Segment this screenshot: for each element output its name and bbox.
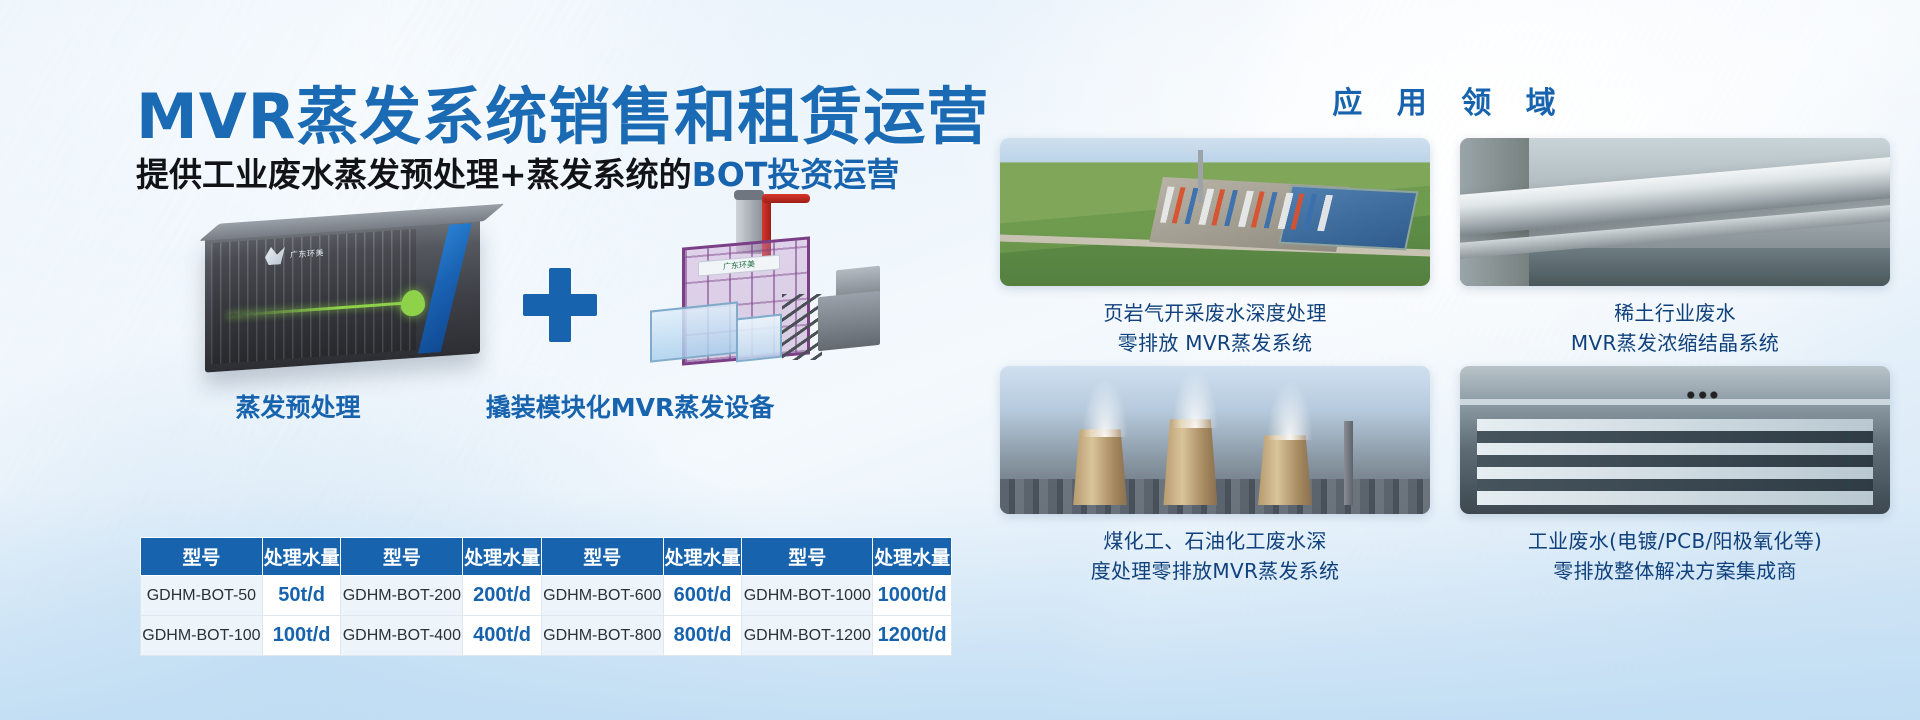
product-caption-right: 撬装模块化MVR蒸发设备 [460, 388, 800, 424]
applications-column: 应 用 领 域 页岩气开采废水深度处理 零排放 MVR蒸发系统 [980, 0, 1920, 720]
application-card: 稀土行业废水 MVR蒸发浓缩结晶系统 [1460, 138, 1890, 358]
table-cell-model: GDHM-BOT-400 [341, 616, 463, 656]
caption-line-2: MVR蒸发浓缩结晶系统 [1460, 329, 1890, 359]
application-cards-grid: 页岩气开采废水深度处理 零排放 MVR蒸发系统 稀土行业废水 MVR蒸发浓缩结晶… [1000, 138, 1900, 586]
table-cell-capacity: 400t/d [463, 616, 542, 656]
table-cell-model: GDHM-BOT-800 [541, 616, 663, 656]
table-header-cell: 型号 [541, 538, 663, 576]
photo-detail-cooling-tower [1258, 435, 1312, 505]
equipment-control-box-lower [818, 291, 880, 352]
caption-line-1: 页岩气开采废水深度处理 [1103, 301, 1326, 325]
wastewater-treatment-basins-photo [1460, 366, 1890, 514]
caption-line-2: 度处理零排放MVR蒸发系统 [1000, 557, 1430, 587]
photo-detail-steam-plume [1267, 380, 1313, 440]
caption-line-1: 煤化工、石油化工废水深 [1103, 529, 1326, 553]
company-logo-mark [265, 246, 285, 265]
equipment-tank-large [650, 301, 738, 362]
table-header-row: 型号 处理水量 型号 处理水量 型号 处理水量 型号 处理水量 [141, 538, 952, 576]
photo-detail-cooling-tower [1073, 429, 1127, 505]
table-header-cell: 处理水量 [873, 538, 952, 576]
table-cell-capacity: 100t/d [262, 616, 341, 656]
shale-gas-field-photo [1000, 138, 1430, 286]
equipment-stairs [782, 294, 822, 360]
table-header-cell: 型号 [141, 538, 263, 576]
table-row: GDHM-BOT-50 50t/d GDHM-BOT-200 200t/d GD… [141, 576, 952, 616]
table-row: GDHM-BOT-100 100t/d GDHM-BOT-400 400t/d … [141, 616, 952, 656]
unit-brand-label: 广东环美 [290, 247, 324, 260]
application-card: 工业废水(电镀/PCB/阳极氧化等) 零排放整体解决方案集成商 [1460, 366, 1890, 586]
power-plant-cooling-towers-photo [1000, 366, 1430, 514]
table-header-cell: 型号 [341, 538, 463, 576]
table-cell-model: GDHM-BOT-50 [141, 576, 263, 616]
caption-line-2: 零排放整体解决方案集成商 [1460, 557, 1890, 587]
photo-detail-rig [1198, 150, 1203, 203]
caption-line-2: 零排放 MVR蒸发系统 [1000, 329, 1430, 359]
subtitle-highlight: BOT投资运营 [692, 155, 900, 194]
promo-banner: MVR蒸发系统销售和租赁运营 提供工业废水蒸发预处理+蒸发系统的BOT投资运营 … [0, 0, 1920, 720]
application-card-caption: 工业废水(电镀/PCB/阳极氧化等) 零排放整体解决方案集成商 [1460, 527, 1890, 586]
table-header-cell: 型号 [742, 538, 873, 576]
table-cell-model: GDHM-BOT-100 [141, 616, 263, 656]
model-capacity-table: 型号 处理水量 型号 处理水量 型号 处理水量 型号 处理水量 GDHM-BOT… [140, 537, 952, 656]
table-cell-capacity: 800t/d [663, 616, 742, 656]
plus-icon [523, 268, 597, 342]
equipment-tank-small [736, 314, 782, 363]
table-cell-capacity: 600t/d [663, 576, 742, 616]
photo-detail-basin-water [1477, 431, 1873, 443]
product-caption-left: 蒸发预处理 [128, 388, 468, 424]
left-content-column: MVR蒸发系统销售和租赁运营 提供工业废水蒸发预处理+蒸发系统的BOT投资运营 … [0, 0, 980, 720]
photo-detail-walkway [1460, 399, 1890, 405]
table-cell-model: GDHM-BOT-200 [341, 576, 463, 616]
table-header-cell: 处理水量 [663, 538, 742, 576]
photo-detail-cooling-tower [1163, 419, 1217, 505]
table-header-cell: 处理水量 [463, 538, 542, 576]
application-card-caption: 稀土行业废水 MVR蒸发浓缩结晶系统 [1460, 299, 1890, 358]
table-cell-model: GDHM-BOT-1000 [742, 576, 873, 616]
photo-detail-workers [1684, 385, 1718, 405]
table-cell-model: GDHM-BOT-1200 [742, 616, 873, 656]
photo-detail-basin-water [1477, 455, 1873, 467]
equipment-red-pipe-horizontal [762, 194, 810, 203]
application-card: 页岩气开采废水深度处理 零排放 MVR蒸发系统 [1000, 138, 1430, 358]
application-card-caption: 煤化工、石油化工废水深 度处理零排放MVR蒸发系统 [1000, 527, 1430, 586]
photo-detail-basin-edge [1477, 491, 1873, 505]
skid-mounted-mvr-equipment-image: 广东环美 [650, 190, 910, 375]
table-cell-capacity: 1200t/d [873, 616, 952, 656]
page-subtitle: 提供工业废水蒸发预处理+蒸发系统的BOT投资运营 [136, 148, 899, 196]
table-cell-capacity: 50t/d [262, 576, 341, 616]
page-title: MVR蒸发系统销售和租赁运营 [136, 66, 989, 156]
subtitle-prefix: 提供工业废水蒸发预处理+蒸发系统的 [136, 155, 692, 194]
table-cell-model: GDHM-BOT-600 [541, 576, 663, 616]
pipes-channel-photo [1460, 138, 1890, 286]
table-cell-capacity: 200t/d [463, 576, 542, 616]
table-header-cell: 处理水量 [262, 538, 341, 576]
equipment-tower-cap [734, 190, 764, 200]
photo-detail-steam-plume [1172, 368, 1218, 428]
photo-detail-chimney [1344, 421, 1353, 505]
applications-title: 应 用 领 域 [980, 78, 1920, 122]
caption-line-1: 工业废水(电镀/PCB/阳极氧化等) [1528, 529, 1822, 553]
evaporation-pretreatment-unit-image: 广东环美 [205, 218, 480, 372]
caption-line-1: 稀土行业废水 [1614, 301, 1736, 325]
photo-detail-basin-water [1477, 479, 1873, 491]
photo-detail-steam-plume [1082, 377, 1128, 437]
table-cell-capacity: 1000t/d [873, 576, 952, 616]
application-card-caption: 页岩气开采废水深度处理 零排放 MVR蒸发系统 [1000, 299, 1430, 358]
application-card: 煤化工、石油化工废水深 度处理零排放MVR蒸发系统 [1000, 366, 1430, 586]
